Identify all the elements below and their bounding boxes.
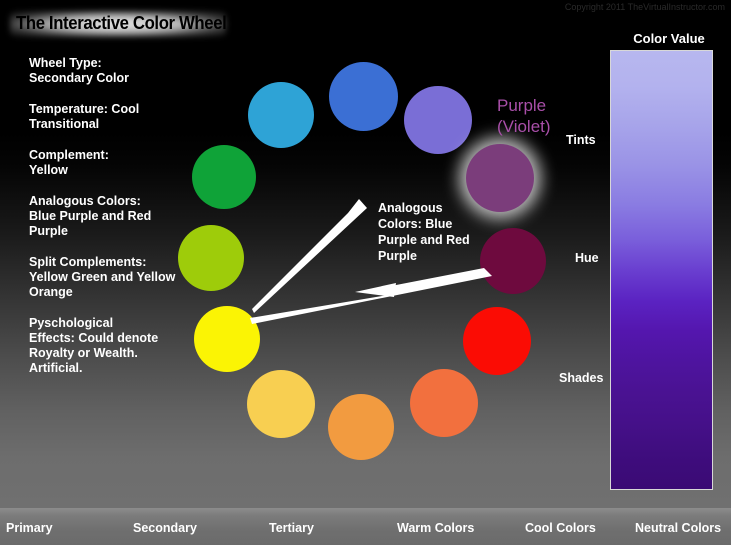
footer-item-primary[interactable]: Primary (6, 521, 53, 535)
selected-color-alt: (Violet) (497, 116, 551, 137)
selected-color-label: Purple (Violet) (497, 95, 551, 137)
footer-item-secondary[interactable]: Secondary (133, 521, 197, 535)
footer-bar (0, 508, 731, 545)
label-hue: Hue (575, 251, 599, 265)
footer-item-neutral-colors[interactable]: Neutral Colors (635, 521, 721, 535)
label-tints: Tints (566, 133, 596, 147)
color-value-bar[interactable] (610, 50, 713, 490)
color-value-title: Color Value (609, 31, 729, 46)
color-wheel-app: The Interactive Color Wheel Copyright 20… (0, 0, 731, 545)
analogous-annotation: Analogous Colors: Blue Purple and Red Pu… (378, 200, 482, 264)
selected-color-name: Purple (497, 95, 551, 116)
label-shades: Shades (559, 371, 603, 385)
footer-item-tertiary[interactable]: Tertiary (269, 521, 314, 535)
footer-item-warm-colors[interactable]: Warm Colors (397, 521, 474, 535)
arrow-to-blue-purple (252, 199, 367, 313)
footer-item-cool-colors[interactable]: Cool Colors (525, 521, 596, 535)
arrow-head-red-purple (355, 283, 396, 297)
